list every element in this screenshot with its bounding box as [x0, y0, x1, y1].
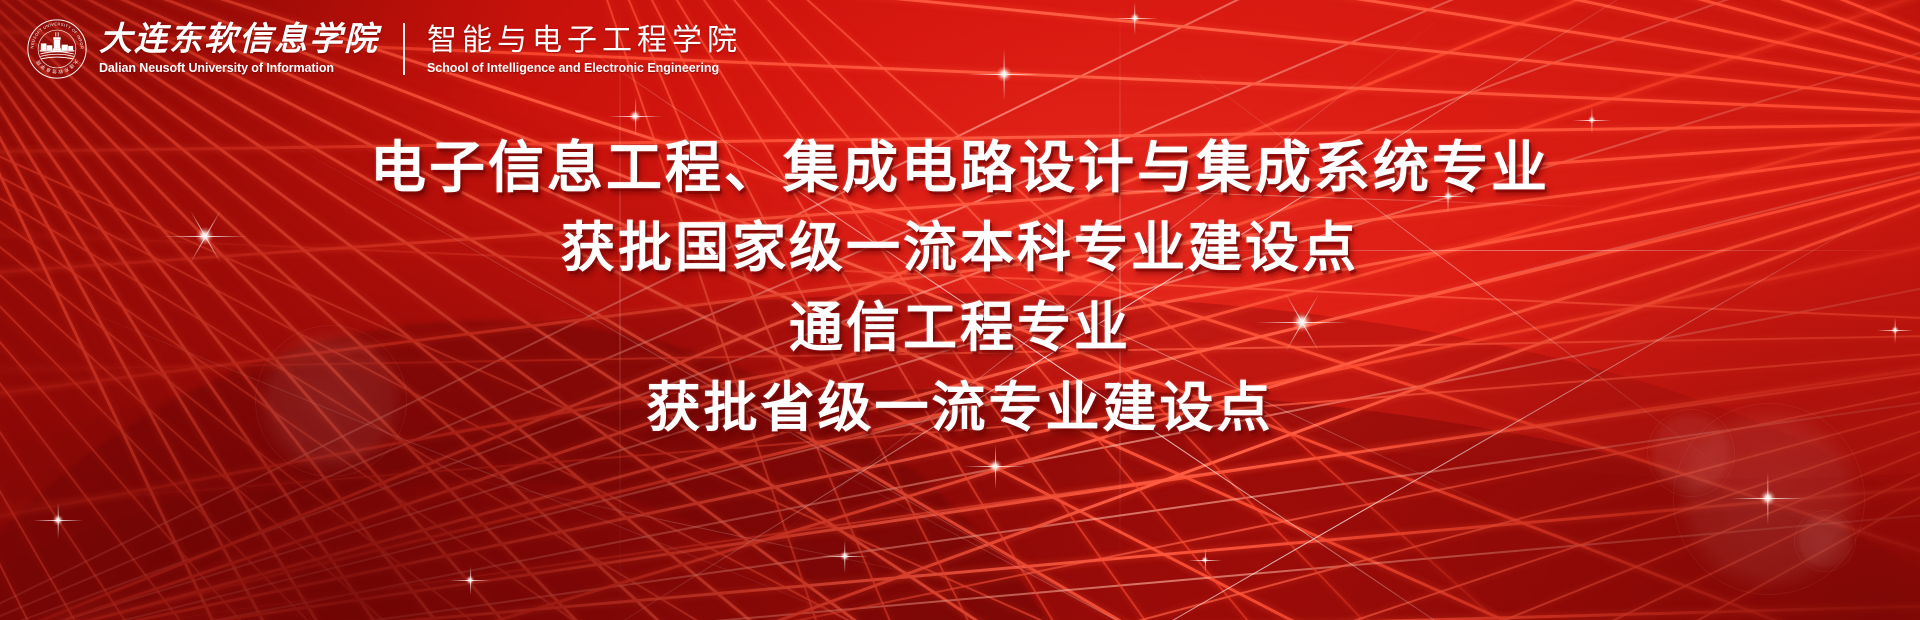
light-ray: [760, 430, 1820, 620]
sparkle-star-icon: [450, 560, 490, 600]
sparkle-star-icon: [33, 495, 83, 545]
stripe-ray: [0, 40, 1192, 620]
stripe-ray: [0, 324, 1920, 620]
promo-banner: DALIAN NEUSOFT UNIVERSITY OF INFORMATION…: [0, 0, 1920, 620]
sparkle-star-icon: [822, 533, 868, 579]
stripe-ray: [0, 613, 1920, 620]
sparkle-star-icon: [1112, 0, 1158, 41]
sparkle-spike: [1285, 294, 1319, 352]
sparkle-spike: [1003, 49, 1004, 101]
light-ray: [740, 10, 1450, 565]
sparkle-star-icon: [1877, 312, 1913, 348]
stripe-ray: [0, 120, 1920, 157]
sparkle-spike: [1204, 548, 1205, 572]
stripe-ray: [0, 40, 1524, 620]
stripe-ray: [0, 0, 1058, 620]
light-ray: [250, 120, 1203, 620]
stripe-ray: [0, 0, 1920, 620]
sparkle-spike: [1767, 472, 1768, 525]
sparkle-star-icon: [1731, 461, 1805, 535]
sparkle-core: [466, 576, 475, 585]
light-ray: [492, 0, 1680, 620]
sparkle-spike: [1894, 318, 1895, 344]
stripe-ray: [0, 41, 808, 620]
sparkle-spike: [469, 566, 470, 595]
stripe-ray: [0, 330, 1920, 620]
wave-shape-lower: [0, 211, 1920, 620]
sparkle-spike: [1285, 294, 1319, 352]
sparkle-star-icon: [1573, 101, 1611, 139]
stripe-ray: [0, 330, 1920, 620]
stripe-ray: [0, 0, 1695, 620]
stripe-ray: [0, 40, 1711, 620]
stripe-ray: [0, 57, 1920, 620]
sparkle-spike: [1877, 330, 1913, 331]
stripe-ray: [0, 330, 1920, 620]
sparkle-spike: [1112, 18, 1158, 19]
stripe-ray: [0, 40, 1867, 620]
stripe-ray: [0, 40, 1793, 620]
light-ray: [60, 300, 895, 620]
lens-flare-circles: [0, 0, 1920, 620]
wave-shape-bottom: [0, 348, 1920, 620]
swoosh-arc: [0, 320, 1160, 620]
lens-flare: [1647, 409, 1735, 497]
headline-line-2: 获批国家级一流本科专业建设点: [0, 208, 1920, 288]
stripe-ray: [39, 330, 1920, 620]
stripe-ray: [0, 0, 1920, 620]
light-ray: [620, 1, 621, 620]
stripe-ray: [0, 0, 938, 620]
sparkle-core: [1292, 312, 1312, 332]
stripe-ray: [0, 0, 1920, 620]
light-ray: [1160, 250, 1920, 251]
stripe-ray: [0, 0, 1920, 620]
stripe-ray: [0, 0, 1920, 620]
sparkle-core: [988, 459, 1002, 473]
school-name-cn: 智能与电子工程学院: [427, 24, 742, 57]
lens-flare: [1794, 510, 1856, 572]
sparkle-spike: [1134, 2, 1135, 35]
sparkle-core: [1443, 191, 1453, 201]
sparkle-star-icon: [163, 194, 247, 278]
crossing-light-rays: [0, 0, 1920, 620]
stripe-ray: [0, 0, 1920, 620]
sparkle-spike: [33, 520, 83, 521]
university-name-block: 大连东软信息学院 Dalian Neusoft University of In…: [99, 23, 379, 75]
sparkle-spike: [634, 97, 635, 136]
headline-line-3: 通信工程专业: [0, 288, 1920, 368]
university-name-cn: 大连东软信息学院: [99, 23, 379, 58]
light-ray: [1180, 60, 1740, 482]
sparkle-spike: [844, 540, 845, 573]
stripe-ray: [0, 120, 1920, 424]
sparkle-spike: [1447, 181, 1448, 213]
stripe-ray: [0, 190, 1920, 620]
sparkle-spike: [189, 210, 220, 263]
sparkle-spike: [1573, 120, 1611, 121]
light-ray: [430, 470, 939, 579]
svg-text:大连东软信息学院: 大连东软信息学院: [34, 58, 80, 75]
stripe-ray: [0, 482, 1920, 620]
stripe-ray: [0, 596, 1920, 620]
background-gradient: [0, 0, 1920, 620]
school-name-block: 智能与电子工程学院 School of Intelligence and Ele…: [427, 24, 742, 75]
stripe-ray: [0, 460, 1920, 620]
stripe-ray: [0, 0, 1601, 620]
sparkle-core: [1201, 556, 1208, 563]
stripe-ray: [0, 40, 1621, 620]
stripe-ray: [0, 223, 1920, 620]
lens-flare: [255, 325, 407, 477]
stripe-ray: [0, 0, 1397, 620]
stripe-ray: [0, 120, 1920, 556]
sparkle-core: [1760, 490, 1776, 506]
stripe-ray: [0, 40, 1420, 620]
sparkle-star-icon: [968, 38, 1040, 110]
university-seal-icon: DALIAN NEUSOFT UNIVERSITY OF INFORMATION…: [26, 18, 88, 80]
sparkle-core: [1588, 116, 1596, 124]
lens-flare: [1673, 403, 1865, 595]
diagonal-stripe-rays: [0, 0, 1920, 620]
stripe-ray: [0, 230, 1920, 332]
vertical-divider: [403, 23, 405, 75]
sparkle-spike: [994, 444, 995, 489]
stripe-ray: [0, 0, 1920, 620]
stripe-ray: [0, 352, 1920, 620]
stripe-ray: [0, 120, 1920, 620]
sparkle-star-icon: [1426, 174, 1470, 218]
sparkle-spike: [968, 74, 1040, 75]
stripe-ray: [519, 0, 1477, 620]
sparkle-spike: [450, 580, 490, 581]
sparkle-core: [629, 110, 641, 122]
stripe-ray: [0, 330, 1920, 372]
light-ray: [795, 182, 1520, 521]
headline-line-4: 获批省级一流专业建设点: [0, 368, 1920, 448]
sparkle-spike: [189, 210, 220, 263]
stripe-ray: [0, 0, 1868, 620]
sparkle-star-icon: [964, 435, 1026, 497]
background-vignette: [0, 0, 1920, 620]
stripe-ray: [519, 0, 1635, 620]
sparkle-spike: [163, 236, 247, 237]
stripe-ray: [0, 0, 1920, 620]
stripe-ray: [519, 0, 1559, 620]
stripe-ray: [144, 330, 1920, 620]
stripe-ray: [519, 0, 1390, 620]
sparkle-core: [196, 227, 214, 245]
headline-block: 电子信息工程、集成电路设计与集成系统专业 获批国家级一流本科专业建设点 通信工程…: [0, 130, 1920, 448]
sparkle-core: [53, 515, 64, 526]
stripe-ray: [0, 330, 1920, 512]
stripe-ray: [0, 40, 1309, 620]
light-ray: [817, 200, 1900, 620]
stripe-ray: [0, 120, 1920, 290]
sparkle-core: [840, 551, 850, 561]
sparkle-core: [1891, 326, 1899, 334]
sparkle-spike: [608, 116, 662, 117]
stripe-ray: [0, 0, 1920, 620]
sparkle-spike: [57, 503, 58, 539]
brand-header: DALIAN NEUSOFT UNIVERSITY OF INFORMATION…: [26, 18, 742, 80]
background-waves: [0, 0, 1920, 620]
stripe-ray: [0, 120, 1920, 620]
school-name-en: School of Intelligence and Electronic En…: [427, 61, 742, 75]
sparkle-star-icon: [1256, 276, 1348, 368]
stripe-ray: [0, 95, 1920, 620]
light-ray: [560, 30, 1597, 620]
stripe-ray: [519, 0, 1298, 620]
sparkle-spike: [1188, 560, 1222, 561]
stripe-ray: [0, 40, 1920, 620]
stripe-ray: [208, 330, 1920, 620]
stripe-ray: [0, 40, 1069, 620]
stripe-ray: [87, 330, 1920, 620]
light-ray: [1120, 1, 1121, 561]
sparkle-spike: [1426, 196, 1470, 197]
stripe-ray: [0, 0, 1175, 620]
headline-line-1: 电子信息工程、集成电路设计与集成系统专业: [0, 130, 1920, 208]
sparkle-core: [1130, 13, 1140, 23]
sparkle-spike: [822, 556, 868, 557]
stripe-ray: [0, 120, 1920, 620]
sparkle-star-icon: [608, 89, 662, 143]
light-ray: [980, 185, 1600, 208]
stripe-ray: [0, 0, 1288, 620]
stripe-ray: [0, 0, 1920, 620]
stripe-ray: [519, 0, 1202, 620]
stripe-ray: [519, 0, 1102, 620]
sparkle-spike: [1731, 498, 1805, 499]
wave-shape-top: [593, 0, 1920, 551]
sparkle-spike: [964, 466, 1026, 467]
university-name-en: Dalian Neusoft University of Information: [99, 61, 379, 75]
sparkle-spike: [1256, 322, 1348, 323]
stripe-ray: [0, 0, 1784, 620]
stripe-ray: [0, 0, 1920, 620]
stripe-ray: [0, 0, 1501, 620]
stripe-ray: [0, 0, 1920, 620]
stripe-ray: [519, 0, 999, 620]
sparkle-stars: [0, 0, 1920, 620]
sparkle-star-icon: [1188, 543, 1222, 577]
sparkle-core: [996, 66, 1012, 82]
stripe-ray: [0, 41, 941, 620]
wave-shape-mid: [980, 150, 1920, 620]
sparkle-spike: [1591, 107, 1592, 134]
